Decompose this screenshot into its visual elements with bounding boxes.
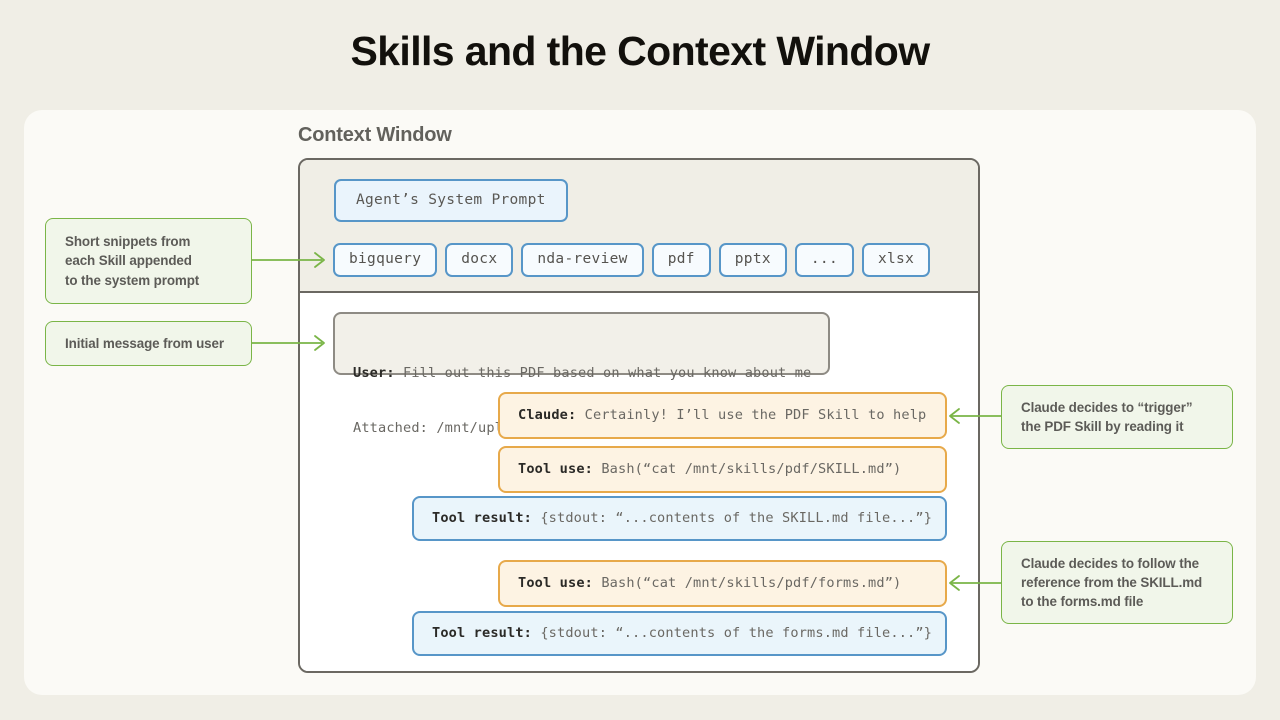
- annotation-skill-snippets-line-3: to the system prompt: [65, 273, 199, 288]
- annotation-follow-reference: Claude decides to follow the reference f…: [1001, 541, 1233, 624]
- message-tool-use-1-label: Tool use:: [518, 460, 593, 478]
- message-tool-use-1: Tool use: Bash(“cat /mnt/skills/pdf/SKIL…: [498, 446, 947, 493]
- annotation-follow-reference-line-2: reference from the SKILL.md: [1021, 575, 1202, 590]
- message-tool-use-2-body: Bash(“cat /mnt/skills/pdf/forms.md”): [593, 574, 901, 592]
- skill-chip-bigquery[interactable]: bigquery: [333, 243, 437, 277]
- skill-chip-pdf[interactable]: pdf: [652, 243, 711, 277]
- message-tool-use-2: Tool use: Bash(“cat /mnt/skills/pdf/form…: [498, 560, 947, 607]
- message-tool-result-1: Tool result: {stdout: “...contents of th…: [412, 496, 947, 541]
- skill-chips-row: bigquery docx nda-review pdf pptx ... xl…: [333, 243, 930, 277]
- annotation-skill-snippets-line-2: each Skill appended: [65, 253, 192, 268]
- message-user-label: User:: [353, 365, 395, 381]
- message-tool-result-1-label: Tool result:: [432, 509, 532, 527]
- skill-chip-pptx[interactable]: pptx: [719, 243, 787, 277]
- annotation-initial-message-text: Initial message from user: [65, 334, 224, 353]
- message-tool-result-2-body: {stdout: “...contents of the forms.md fi…: [532, 624, 932, 642]
- skill-chip-nda-review[interactable]: nda-review: [521, 243, 643, 277]
- message-tool-result-1-body: {stdout: “...contents of the SKILL.md fi…: [532, 509, 932, 527]
- context-window-label: Context Window: [298, 124, 452, 147]
- message-claude-label: Claude:: [518, 406, 576, 424]
- page-title: Skills and the Context Window: [0, 28, 1280, 75]
- annotation-skill-snippets-line-1: Short snippets from: [65, 234, 190, 249]
- annotation-initial-message: Initial message from user: [45, 321, 252, 366]
- message-claude: Claude: Certainly! I’ll use the PDF Skil…: [498, 392, 947, 439]
- annotation-skill-snippets: Short snippets from each Skill appended …: [45, 218, 252, 304]
- skill-chip-xlsx[interactable]: xlsx: [862, 243, 930, 277]
- message-user: User: Fill out this PDF based on what yo…: [333, 312, 830, 375]
- annotation-trigger-skill-line-2: the PDF Skill by reading it: [1021, 419, 1183, 434]
- annotation-follow-reference-line-3: to the forms.md file: [1021, 594, 1143, 609]
- message-user-body-line-1: Fill out this PDF based on what you know…: [395, 365, 812, 381]
- message-claude-body: Certainly! I’ll use the PDF Skill to hel…: [576, 406, 926, 424]
- annotation-trigger-skill: Claude decides to “trigger” the PDF Skil…: [1001, 385, 1233, 449]
- message-tool-use-2-label: Tool use:: [518, 574, 593, 592]
- annotation-trigger-skill-line-1: Claude decides to “trigger”: [1021, 400, 1192, 415]
- message-tool-result-2-label: Tool result:: [432, 624, 532, 642]
- skill-chip-docx[interactable]: docx: [445, 243, 513, 277]
- annotation-follow-reference-line-1: Claude decides to follow the: [1021, 556, 1199, 571]
- message-tool-use-1-body: Bash(“cat /mnt/skills/pdf/SKILL.md”): [593, 460, 901, 478]
- skill-chip-ellipsis[interactable]: ...: [795, 243, 854, 277]
- agent-system-prompt-box: Agent’s System Prompt: [334, 179, 568, 222]
- system-prompt-zone: Agent’s System Prompt bigquery docx nda-…: [300, 160, 978, 293]
- message-tool-result-2: Tool result: {stdout: “...contents of th…: [412, 611, 947, 656]
